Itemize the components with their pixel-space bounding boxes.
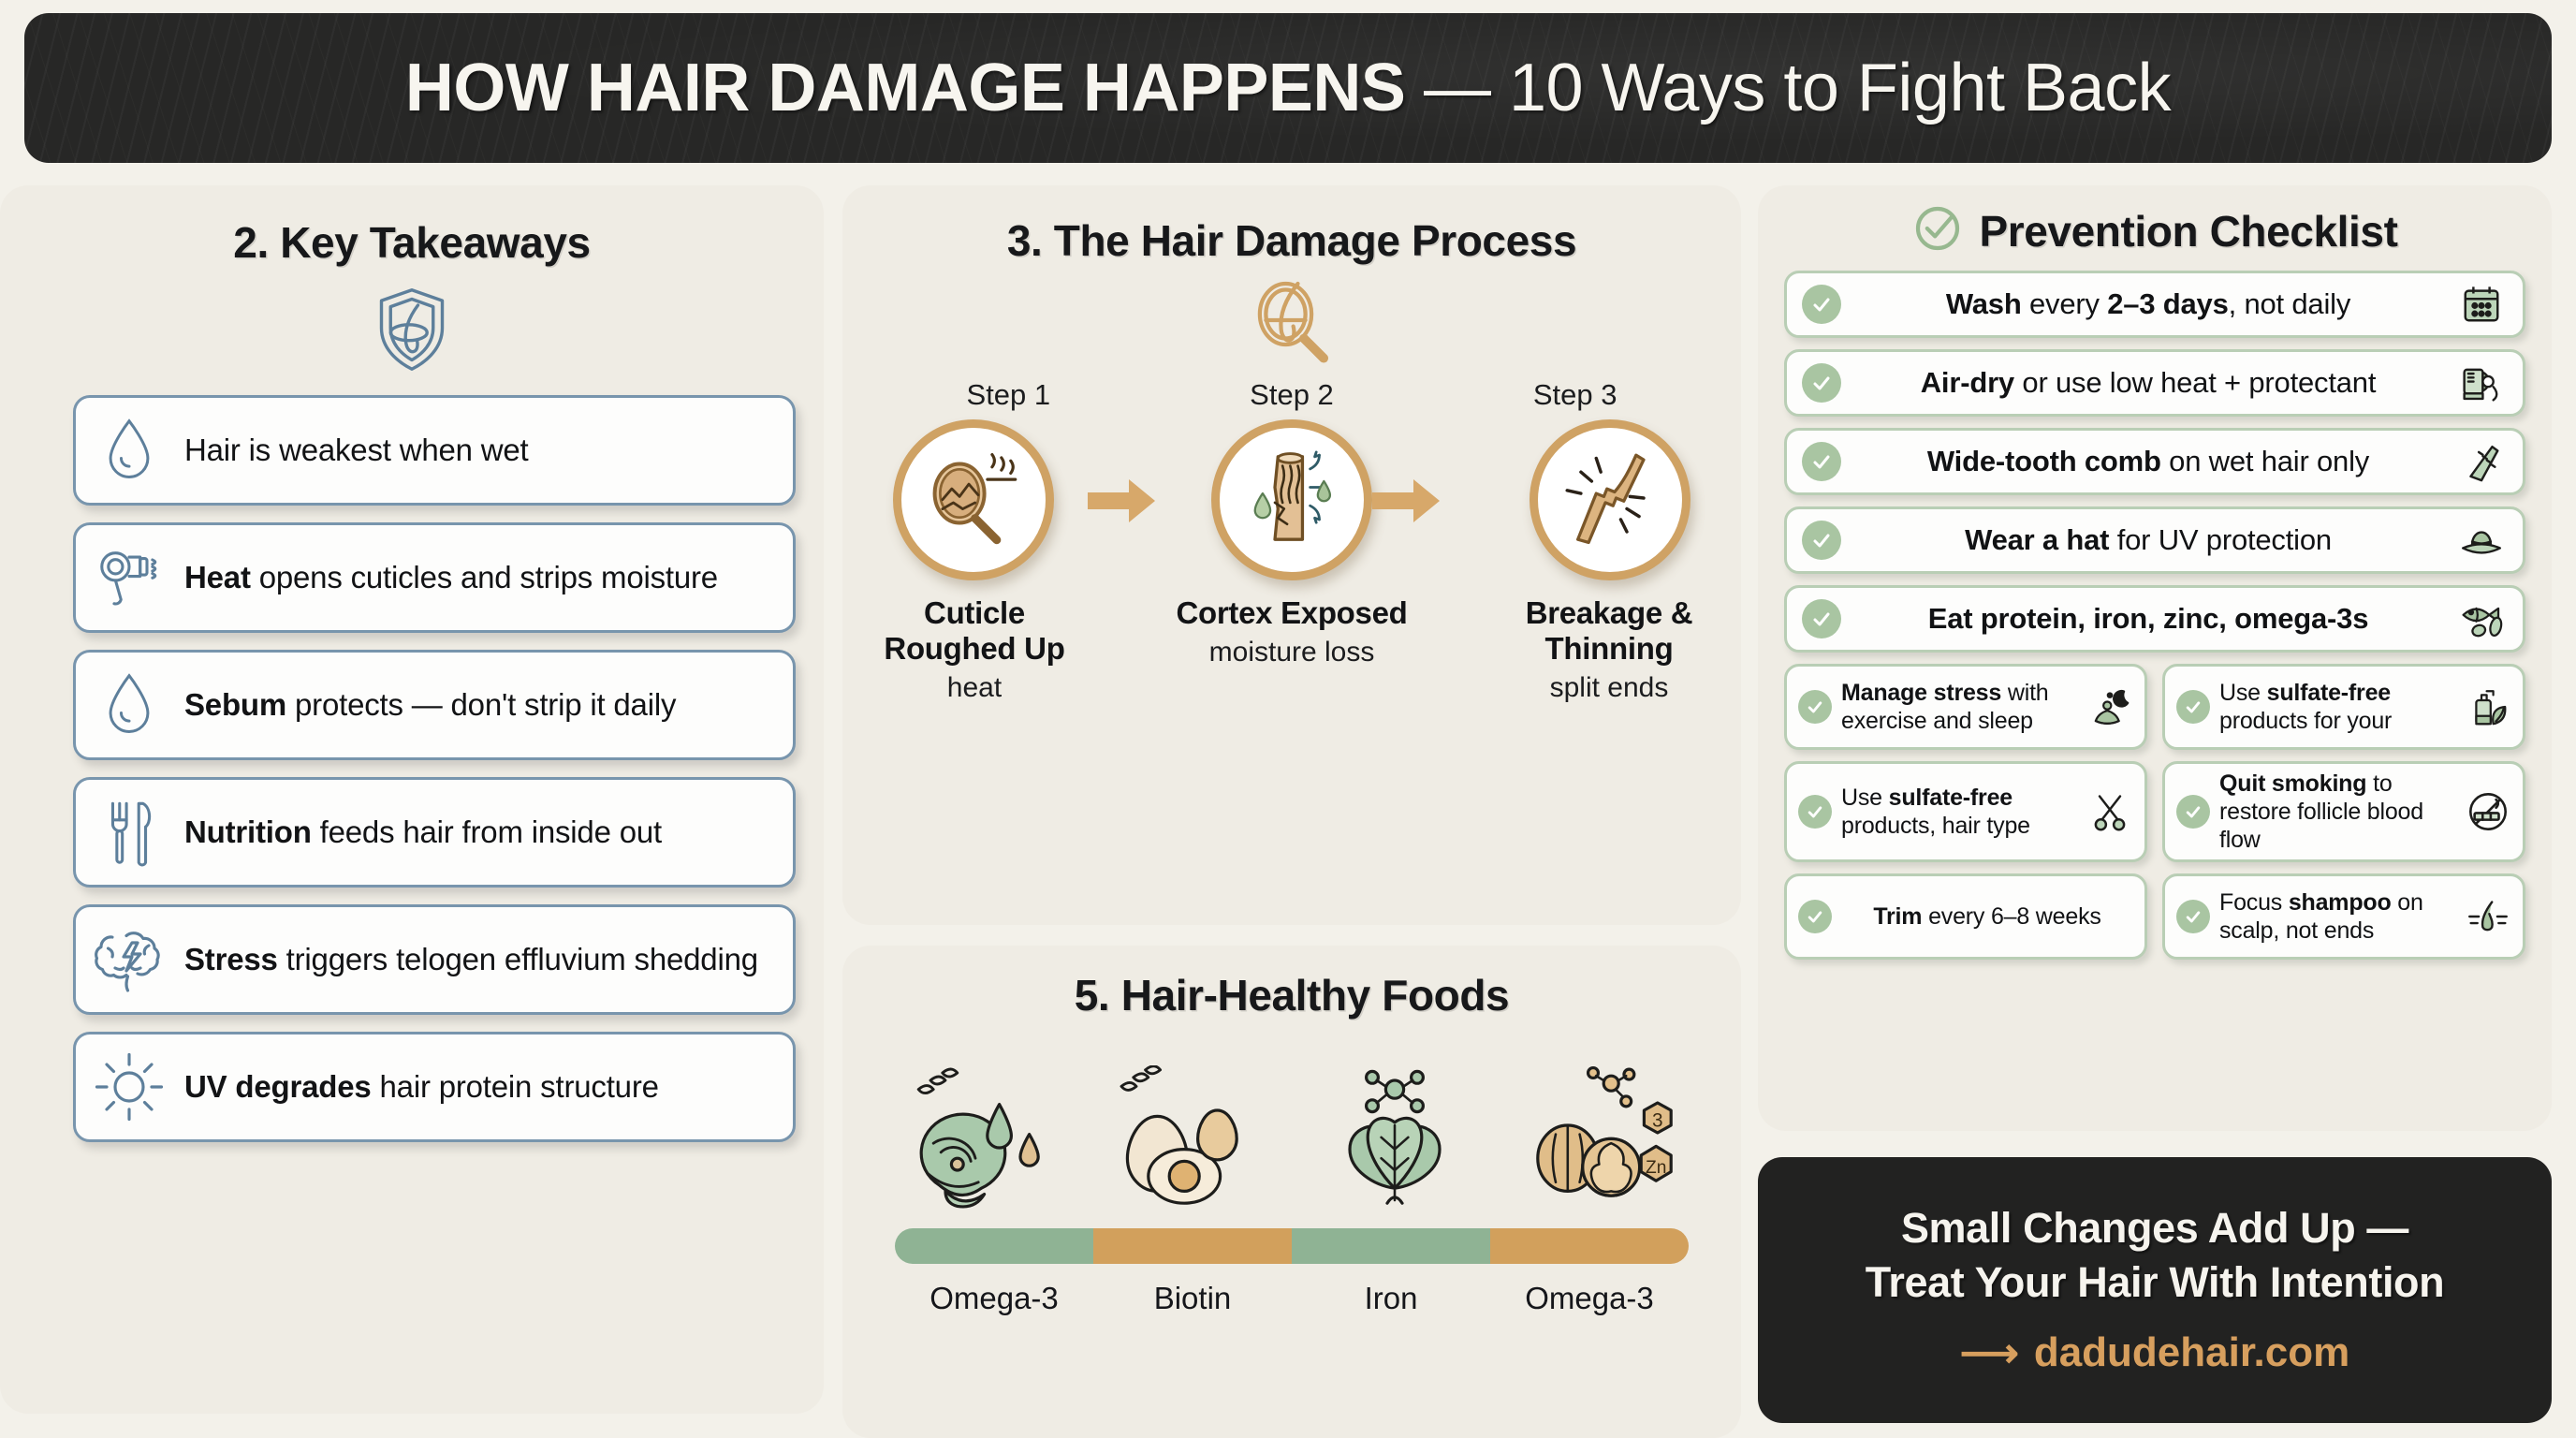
hair-dryer-icon [2455, 361, 2508, 404]
checklist-item[interactable]: Use sulfate-free products for your [2162, 664, 2525, 750]
step-labels-row: Cuticle Roughed Up heat Cortex Exposed m… [842, 595, 1741, 704]
takeaway-list: Hair is weakest when wet Heat opens cuti… [73, 395, 796, 1142]
check-icon [1798, 690, 1832, 724]
step-title: Cortex Exposed [1175, 595, 1409, 631]
scissors-icon [2086, 791, 2133, 832]
step-number: Step 3 [1533, 378, 1617, 412]
checklist-item[interactable]: Trim every 6–8 weeks [1784, 873, 2147, 960]
check-icon [1802, 442, 1841, 481]
checklist-header: Prevention Checklist [1758, 202, 2552, 259]
step-number: Step 2 [1250, 378, 1334, 412]
step-number: Step 1 [967, 378, 1051, 412]
checklist-text: Manage stress with exercise and sleep [1841, 679, 2077, 735]
header-banner: HOW HAIR DAMAGE HAPPENS — 10 Ways to Fig… [24, 13, 2552, 163]
takeaway-text: Stress triggers telogen effluvium sheddi… [184, 942, 758, 978]
takeaway-card: UV degrades hair protein structure [73, 1032, 796, 1142]
checklist-rows: Wash every 2–3 days, not daily Air-dr [1784, 271, 2525, 653]
nutrient-bar-segment [895, 1228, 1093, 1264]
no-smoking-icon [2465, 790, 2511, 833]
page-title-bold: HOW HAIR DAMAGE HAPPENS [405, 51, 1406, 125]
checklist-text: Wash every 2–3 days, not daily [1854, 287, 2442, 321]
check-icon [1802, 363, 1841, 403]
cta-banner: Small Changes Add Up — Treat Your Hair W… [1758, 1157, 2552, 1423]
nutrient-bar-segment [1490, 1228, 1689, 1264]
prevention-checklist-panel: Prevention Checklist Wash every 2–3 days… [1758, 185, 2552, 1131]
brain-lightning-icon [89, 919, 169, 1000]
follicle-scalp-icon [2465, 898, 2511, 935]
check-icon [1798, 795, 1832, 829]
checklist-item[interactable]: Air-dry or use low heat + protectant [1784, 349, 2525, 417]
magnifier-follicle-icon [842, 271, 1741, 369]
checklist-text: Wear a hat for UV protection [1854, 523, 2442, 557]
checklist-text: Trim every 6–8 weeks [1841, 902, 2133, 931]
checklist-text: Eat protein, iron, zinc, omega-3s [1854, 602, 2442, 636]
step-circle [1529, 419, 1690, 580]
check-icon [2176, 900, 2210, 933]
checklist-title: Prevention Checklist [1979, 206, 2397, 257]
step-numbers-row: Step 1 Step 2 Step 3 [842, 378, 1741, 412]
spinach-icon [1306, 1065, 1484, 1215]
foods-title: 5. Hair-Healthy Foods [842, 970, 1741, 1020]
takeaway-card: Sebum protects — don't strip it daily [73, 650, 796, 760]
checklist-item[interactable]: Use sulfate-free products, hair type [1784, 761, 2147, 862]
egg-icon [1100, 1065, 1278, 1215]
step-label: Breakage & Thinning split ends [1492, 595, 1726, 704]
takeaway-card: Heat opens cuticles and strips moisture [73, 522, 796, 633]
water-drop-icon [89, 410, 169, 491]
step-title: Cuticle Roughed Up [857, 595, 1091, 667]
check-icon [1802, 285, 1841, 324]
process-circles [842, 419, 1741, 580]
right-arrow-icon [1088, 477, 1157, 529]
takeaway-text: Nutrition feeds hair from inside out [184, 814, 662, 851]
step-caption: moisture loss [1175, 637, 1409, 668]
cta-url-text: dadudehair.com [2034, 1329, 2349, 1376]
checklist-item[interactable]: Focus shampoo on scalp, not ends [2162, 873, 2525, 960]
water-drop-icon [89, 665, 169, 745]
right-arrow-icon [1372, 477, 1442, 529]
food-label: Iron [1292, 1281, 1490, 1316]
sun-icon [89, 1047, 169, 1127]
takeaway-text: Heat opens cuticles and strips moisture [184, 560, 718, 596]
step-title: Breakage & Thinning [1492, 595, 1726, 667]
meditation-moon-icon [2086, 686, 2133, 727]
takeaway-card: Hair is weakest when wet [73, 395, 796, 506]
takeaway-text: UV degrades hair protein structure [184, 1069, 659, 1106]
check-icon [1802, 599, 1841, 638]
process-title: 3. The Hair Damage Process [842, 215, 1741, 266]
calendar-icon [2455, 283, 2508, 326]
hair-shaft-cortex-icon [1237, 448, 1346, 553]
step-label: Cortex Exposed moisture loss [1175, 595, 1409, 704]
damage-process-panel: 3. The Hair Damage Process Step 1 Step 2… [842, 185, 1741, 925]
key-takeaways-panel: 2. Key Takeaways Hair is weakest when we… [0, 185, 824, 1414]
fish-seeds-icon [2455, 597, 2508, 640]
checklist-text: Use sulfate-free products, hair type [1841, 784, 2077, 840]
takeaway-card: Stress triggers telogen effluvium sheddi… [73, 904, 796, 1015]
svg-text:3: 3 [1652, 1110, 1663, 1132]
food-label: Omega-3 [1490, 1281, 1689, 1316]
cta-line-1: Small Changes Add Up — [1901, 1204, 2408, 1253]
nutrient-bar-segment [1292, 1228, 1490, 1264]
checklist-text: Air-dry or use low heat + protectant [1854, 366, 2442, 400]
walnut-icon: 3 Zn [1512, 1065, 1690, 1215]
food-label: Omega-3 [895, 1281, 1093, 1316]
check-icon [1802, 521, 1841, 560]
shield-hair-follicle-icon [0, 281, 824, 378]
takeaways-title: 2. Key Takeaways [0, 217, 824, 268]
step-label: Cuticle Roughed Up heat [857, 595, 1091, 704]
check-circle-icon [1911, 202, 1964, 259]
check-icon [2176, 795, 2210, 829]
right-arrow-icon: ⟶ [1960, 1329, 2019, 1377]
takeaway-card: Nutrition feeds hair from inside out [73, 777, 796, 888]
cta-url-link[interactable]: ⟶ dadudehair.com [1960, 1329, 2350, 1377]
infographic-page: HOW HAIR DAMAGE HAPPENS — 10 Ways to Fig… [0, 0, 2576, 1438]
takeaway-text: Hair is weakest when wet [184, 433, 529, 469]
checklist-item[interactable]: Eat protein, iron, zinc, omega-3s [1784, 585, 2525, 653]
nutrient-bar-segment [1093, 1228, 1292, 1264]
broken-hair-strand-icon [1558, 448, 1662, 553]
checklist-text: Wide-tooth comb on wet hair only [1854, 445, 2442, 478]
foods-icons-row: 3 Zn [842, 1037, 1741, 1215]
step-circle [893, 419, 1054, 580]
check-icon [2176, 690, 2210, 724]
step-caption: heat [857, 672, 1091, 704]
checklist-item[interactable]: Manage stress with exercise and sleep [1784, 664, 2147, 750]
checklist-grid: Manage stress with exercise and sleep [1784, 664, 2525, 960]
salmon-icon [894, 1065, 1072, 1215]
hair-dryer-icon [89, 537, 169, 618]
step-circle [1211, 419, 1372, 580]
checklist-text: Quit smoking to restore follicle blood f… [2219, 770, 2455, 854]
comb-icon [2455, 440, 2508, 483]
svg-text:Zn: Zn [1646, 1158, 1666, 1178]
check-icon [1798, 900, 1832, 933]
cta-line-2: Treat Your Hair With Intention [1866, 1258, 2444, 1307]
page-title: HOW HAIR DAMAGE HAPPENS — 10 Ways to Fig… [405, 50, 2171, 126]
page-title-rest: — 10 Ways to Fight Back [1405, 51, 2171, 125]
step-caption: split ends [1492, 672, 1726, 704]
checklist-item[interactable]: Quit smoking to restore follicle blood f… [2162, 761, 2525, 862]
food-labels-row: Omega-3 Biotin Iron Omega-3 [895, 1281, 1689, 1316]
sun-hat-icon [2455, 520, 2508, 561]
food-label: Biotin [1093, 1281, 1292, 1316]
checklist-item[interactable]: Wide-tooth comb on wet hair only [1784, 428, 2525, 495]
shampoo-leaf-icon [2465, 685, 2511, 728]
checklist-text: Focus shampoo on scalp, not ends [2219, 888, 2455, 945]
nutrient-bar [895, 1228, 1689, 1264]
checklist-item[interactable]: Wear a hat for UV protection [1784, 506, 2525, 574]
hair-healthy-foods-panel: 5. Hair-Healthy Foods [842, 946, 1741, 1438]
magnifier-rough-cuticle-icon [919, 451, 1028, 550]
takeaway-text: Sebum protects — don't strip it daily [184, 687, 676, 724]
checklist-item[interactable]: Wash every 2–3 days, not daily [1784, 271, 2525, 338]
fork-knife-icon [89, 792, 169, 873]
checklist-text: Use sulfate-free products for your [2219, 679, 2455, 735]
